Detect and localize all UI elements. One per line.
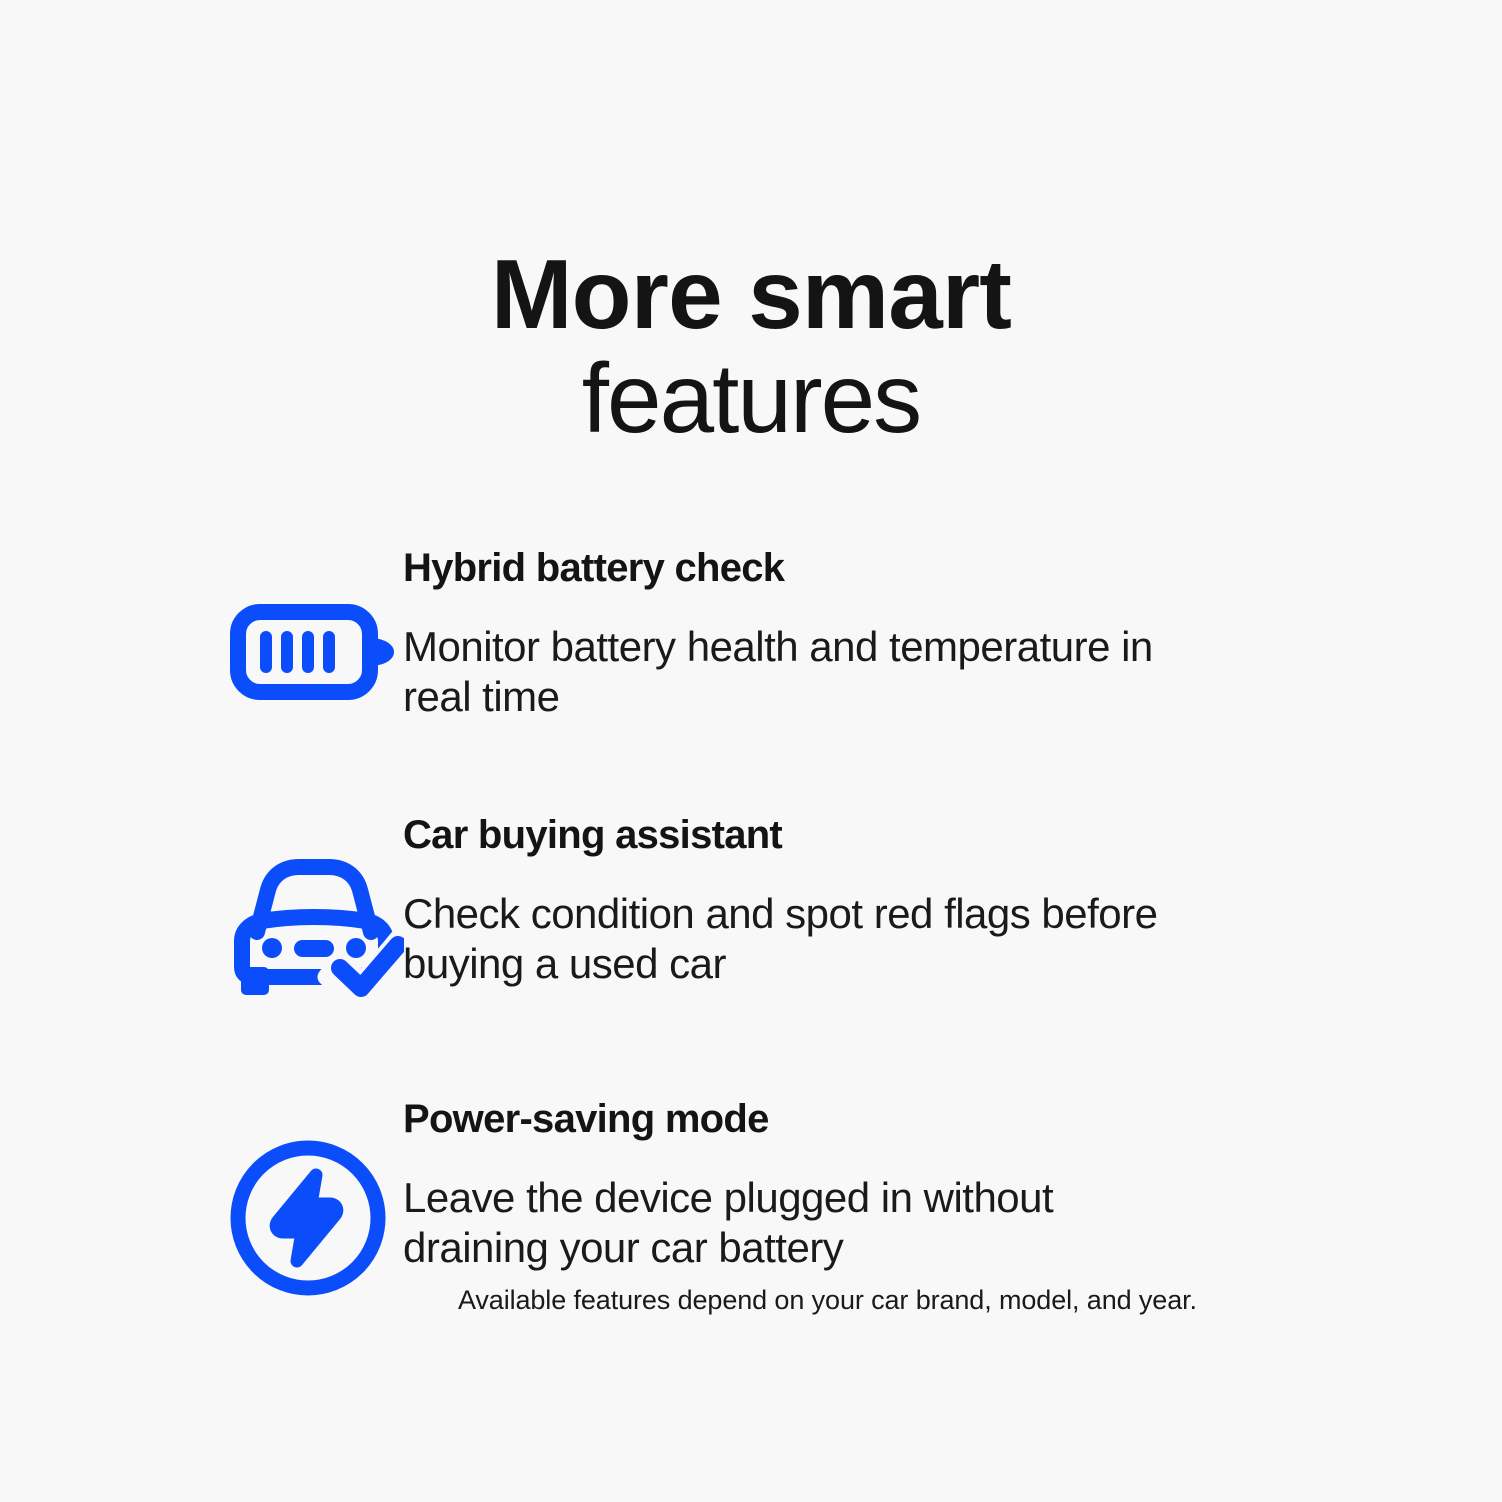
feature-text: Hybrid battery check Monitor battery hea…: [403, 540, 1502, 721]
list-item: Car buying assistant Check condition and…: [0, 807, 1502, 1005]
feature-text: Car buying assistant Check condition and…: [403, 807, 1502, 988]
feature-title: Power-saving mode: [403, 1095, 1352, 1143]
page-title: More smart features: [0, 243, 1502, 451]
car-check-icon: [228, 855, 404, 1005]
feature-icon-wrapper: [228, 807, 403, 1005]
feature-description: Check condition and spot red flags befor…: [403, 889, 1193, 988]
promo-card: More smart features Hybrid b: [0, 0, 1502, 1502]
feature-title: Hybrid battery check: [403, 544, 1352, 592]
page-title-line-2: features: [0, 347, 1502, 451]
list-item: Power-saving mode Leave the device plugg…: [0, 1091, 1502, 1299]
feature-text: Power-saving mode Leave the device plugg…: [403, 1091, 1502, 1272]
feature-description: Monitor battery health and temperature i…: [403, 622, 1193, 721]
battery-icon: [228, 602, 404, 702]
feature-icon-wrapper: [228, 1091, 403, 1299]
feature-description: Leave the device plugged in without drai…: [403, 1173, 1193, 1272]
feature-list: Hybrid battery check Monitor battery hea…: [0, 540, 1502, 1299]
list-item: Hybrid battery check Monitor battery hea…: [0, 540, 1502, 721]
feature-icon-wrapper: [228, 540, 403, 702]
feature-title: Car buying assistant: [403, 811, 1352, 859]
power-bolt-icon: [228, 1137, 404, 1299]
footnote-disclaimer: Available features depend on your car br…: [458, 1283, 1197, 1318]
page-title-line-1: More smart: [0, 243, 1502, 347]
